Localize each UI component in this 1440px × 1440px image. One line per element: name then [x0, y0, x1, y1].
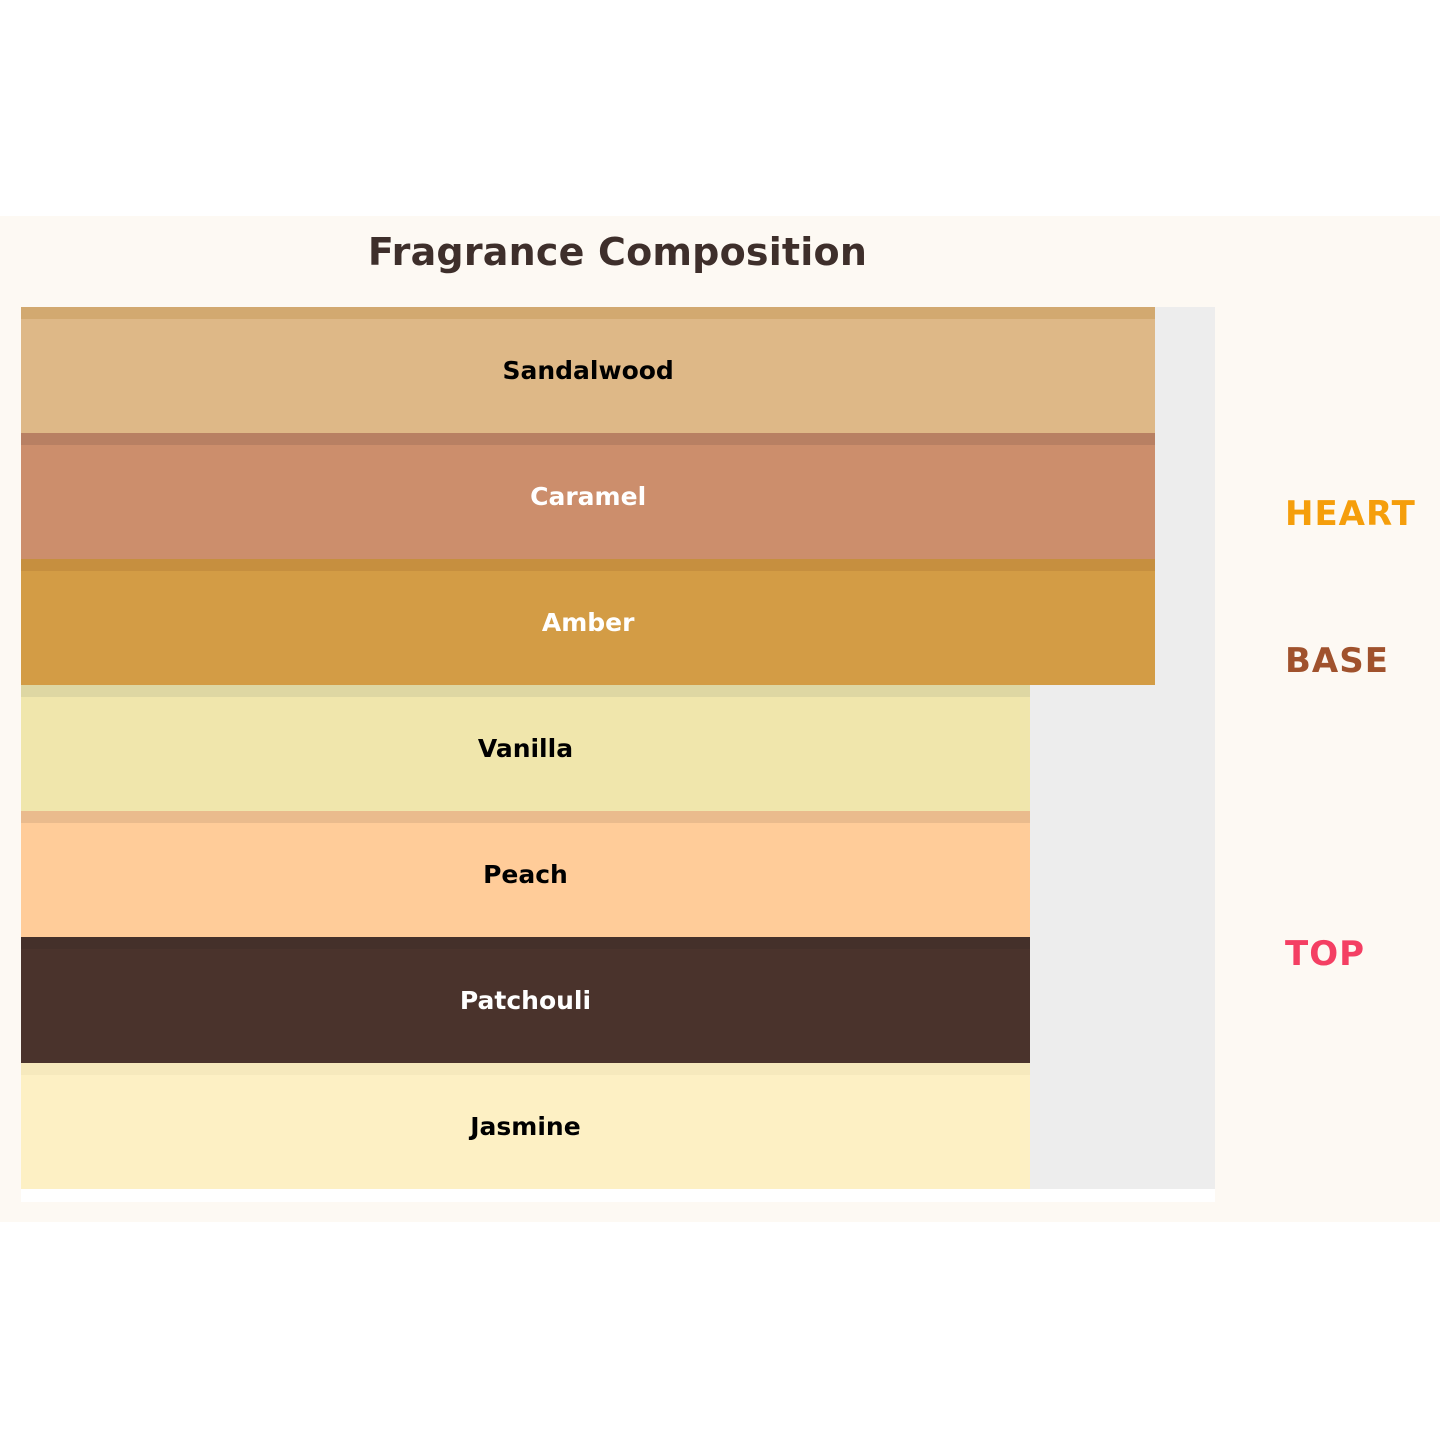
bar-row[interactable]: Amber: [21, 559, 1215, 685]
bar-cap: [21, 559, 1155, 571]
bar-row[interactable]: Jasmine: [21, 1063, 1215, 1189]
bar-cap: [21, 307, 1155, 319]
bar-row[interactable]: Peach: [21, 811, 1215, 937]
bar-segment[interactable]: [21, 1075, 1030, 1189]
bar-row[interactable]: Vanilla: [21, 685, 1215, 811]
bar-segment[interactable]: [21, 949, 1030, 1063]
group-label-base: BASE: [1285, 641, 1389, 681]
bar-cap: [21, 937, 1030, 949]
bar-row[interactable]: Patchouli: [21, 937, 1215, 1063]
bar-segment[interactable]: [21, 823, 1030, 937]
bar-cap: [21, 1063, 1030, 1075]
plot-area: SandalwoodCaramelAmberVanillaPeachPatcho…: [21, 307, 1215, 1202]
chart-title: Fragrance Composition: [0, 230, 1235, 274]
bar-segment[interactable]: [21, 319, 1155, 433]
group-label-heart: HEART: [1285, 494, 1416, 534]
bar-row[interactable]: Caramel: [21, 433, 1215, 559]
bar-cap: [21, 685, 1030, 697]
bar-cap: [21, 433, 1155, 445]
chart-figure: Fragrance Composition SandalwoodCaramelA…: [0, 216, 1440, 1222]
bar-row[interactable]: Sandalwood: [21, 307, 1215, 433]
bar-segment[interactable]: [21, 697, 1030, 811]
group-label-top: TOP: [1285, 934, 1365, 974]
bar-segment[interactable]: [21, 571, 1155, 685]
bar-cap: [21, 811, 1030, 823]
bar-segment[interactable]: [21, 445, 1155, 559]
